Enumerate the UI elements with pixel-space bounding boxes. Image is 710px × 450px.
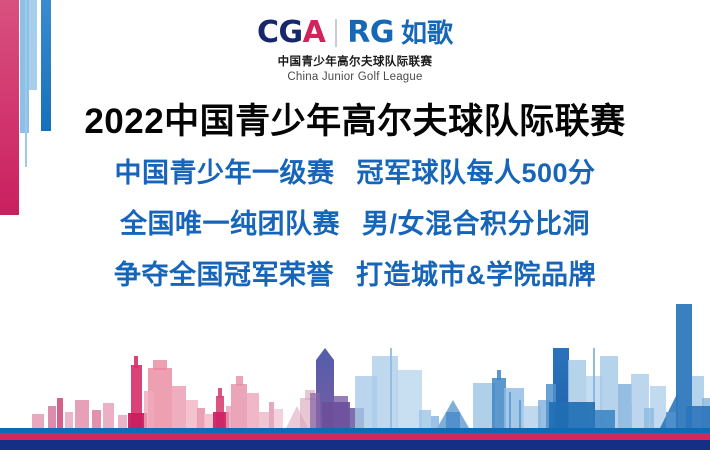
poster-canvas: CGA RG 如歌 中国青少年高尔夫球队际联赛 China Junior Gol… [0,0,710,450]
stripe-pink [0,433,710,440]
logo-lockup: CGA RG 如歌 [0,18,710,48]
feature-line-left: 中国青少年一级赛 [114,158,334,188]
skyline-pink-cluster [32,356,320,428]
feature-line-right: 打造城市&学院品牌 [356,260,596,290]
cga-wordmark-navy: CG [257,15,303,50]
feature-line: 中国青少年一级赛冠军球队每人500分 [0,160,710,187]
feature-line-right: 男/女混合积分比洞 [362,209,590,239]
logo-divider-icon [335,19,337,47]
bottom-stripes [0,428,710,450]
organization-name-cn: 中国青少年高尔夫球队际联赛 [0,53,710,69]
feature-line-right: 冠军球队每人500分 [356,158,595,188]
page-title: 2022中国青少年高尔夫球队际联赛 [0,93,710,144]
city-skyline-svg [0,288,710,428]
feature-line-left: 全国唯一纯团队赛 [120,209,340,239]
city-skyline-graphic [0,288,710,428]
ruge-wordmark: 如歌 [401,20,453,46]
stripe-navy [0,440,710,450]
feature-line-left: 争夺全国冠军荣誉 [114,260,334,290]
cga-wordmark: CGA [257,18,325,48]
rg-wordmark: RG [347,18,394,48]
organization-name-en: China Junior Golf League [0,71,710,83]
cga-wordmark-pink: A [303,15,326,50]
feature-line: 全国唯一纯团队赛男/女混合积分比洞 [0,211,710,238]
logo-block: CGA RG 如歌 中国青少年高尔夫球队际联赛 China Junior Gol… [0,18,710,83]
skyline-blue-cluster [355,304,710,428]
feature-line: 争夺全国冠军荣誉打造城市&学院品牌 [0,262,710,289]
